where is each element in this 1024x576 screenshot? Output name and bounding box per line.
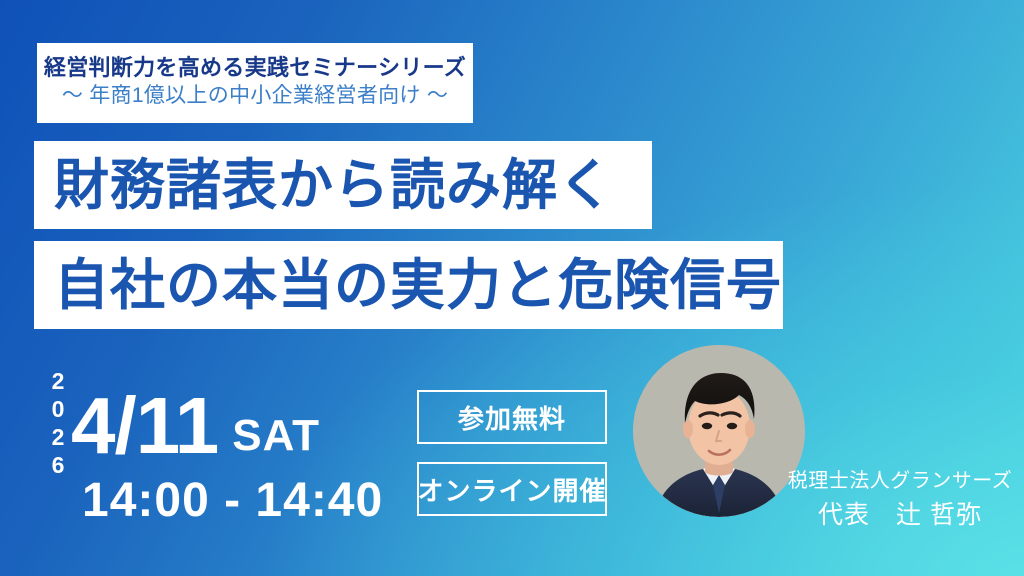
day-of-week-label: SAT: [232, 414, 320, 458]
series-subtitle: 〜 年商1億以上の中小企業経営者向け 〜: [62, 83, 448, 109]
title-box-line1: 財務諸表から読み解く: [34, 141, 652, 229]
date-block: 2026 4/11 SAT: [46, 368, 320, 464]
title-box-line2: 自社の本当の実力と危険信号: [34, 241, 783, 329]
title-line1: 財務諸表から読み解く: [54, 158, 614, 213]
year-label: 2026: [46, 368, 69, 460]
speaker-portrait: [633, 345, 805, 517]
series-title: 経営判断力を高める実践セミナーシリーズ: [44, 56, 466, 80]
header-box: 経営判断力を高める実践セミナーシリーズ 〜 年商1億以上の中小企業経営者向け 〜: [37, 43, 473, 123]
time-label: 14:00 - 14:40: [82, 477, 383, 525]
badge-free: 参加無料: [417, 390, 607, 444]
speaker-name: 代表 辻 哲弥: [782, 499, 1018, 533]
date-label: 4/11: [71, 388, 218, 464]
speaker-company: 税理士法人グランサーズ: [782, 468, 1018, 495]
badge-online: オンライン開催: [417, 462, 607, 516]
title-line2: 自社の本当の実力と危険信号: [54, 258, 782, 313]
portrait-illustration: [633, 345, 805, 517]
seminar-banner: 経営判断力を高める実践セミナーシリーズ 〜 年商1億以上の中小企業経営者向け 〜…: [0, 0, 1024, 576]
speaker-credit: 税理士法人グランサーズ 代表 辻 哲弥: [782, 468, 1018, 533]
